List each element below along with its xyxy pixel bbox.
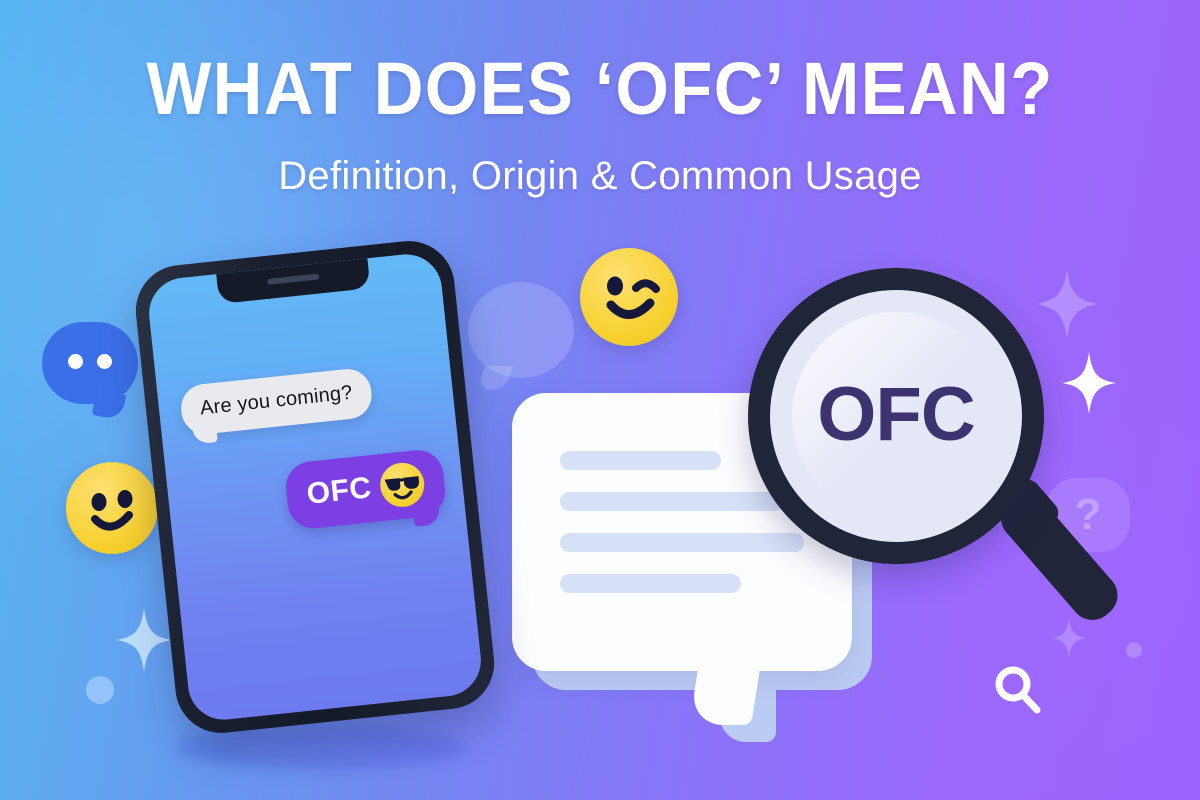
phone-notch	[216, 258, 370, 304]
sparkle-icon	[1062, 352, 1116, 414]
search-icon[interactable]	[992, 664, 1044, 723]
sparkle-icon	[1052, 618, 1086, 658]
typing-dot	[97, 354, 112, 369]
banner-canvas: WHAT DOES ‘OFC’ MEAN? Definition, Origin…	[0, 0, 1200, 800]
decorative-dot	[86, 676, 114, 704]
ghost-bubble-left	[468, 282, 574, 378]
message-text: OFC	[305, 471, 373, 512]
bubble-tail	[92, 389, 127, 421]
earpiece-speaker	[267, 273, 319, 284]
phone-screen: Are you coming? OFC	[146, 251, 485, 723]
message-bubble-incoming[interactable]: Are you coming?	[179, 367, 374, 437]
magnifier-label: OFC	[748, 266, 1044, 562]
page-title: WHAT DOES ‘OFC’ MEAN?	[42, 52, 1158, 126]
message-text: Are you coming?	[199, 382, 354, 420]
bubble-tail	[412, 502, 440, 527]
phone-frame: Are you coming? OFC	[131, 237, 498, 738]
smartphone-mockup: Are you coming? OFC	[131, 237, 498, 738]
banner-heading-group: WHAT DOES ‘OFC’ MEAN? Definition, Origin…	[0, 52, 1200, 199]
page-subtitle: Definition, Origin & Common Usage	[0, 154, 1200, 199]
bubble-tail	[192, 422, 218, 444]
sparkle-icon	[1036, 268, 1098, 340]
smiling-face-emoji	[66, 462, 158, 554]
placeholder-line	[560, 451, 721, 470]
typing-dot	[68, 354, 83, 369]
magnifier-graphic: OFC	[748, 268, 1044, 564]
typing-indicator-bubble	[42, 322, 138, 404]
placeholder-line	[560, 574, 741, 593]
winking-face-emoji	[580, 248, 678, 346]
decorative-dot	[1126, 642, 1142, 658]
message-bubble-outgoing[interactable]: OFC	[284, 448, 448, 531]
bubble-tail	[689, 663, 761, 725]
typing-dots	[68, 354, 112, 369]
sparkle-icon	[116, 608, 172, 672]
smiling-face-with-sunglasses-emoji	[378, 461, 426, 509]
